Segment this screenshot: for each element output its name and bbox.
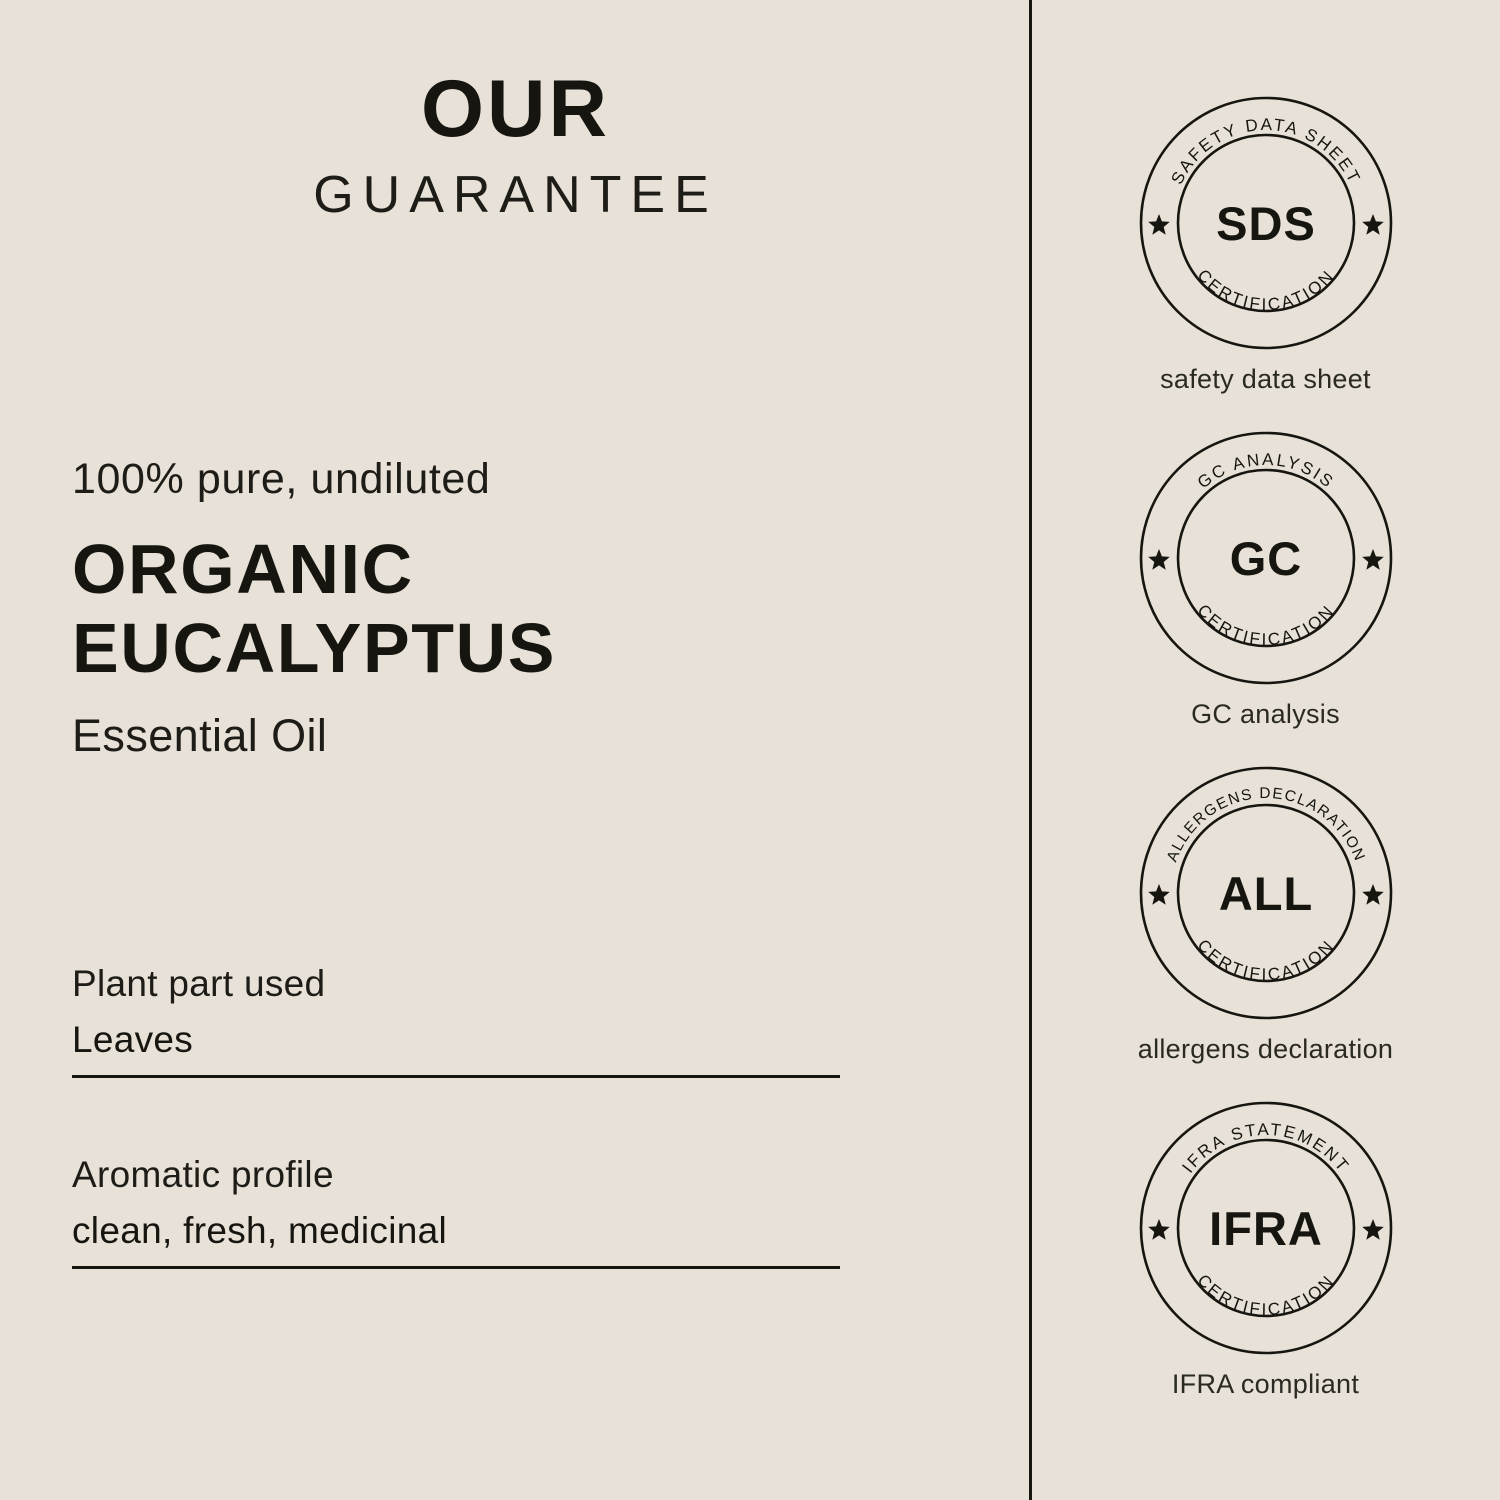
badge-caption: IFRA compliant xyxy=(1031,1369,1500,1400)
spec-list: Plant part used Leaves Aromatic profile … xyxy=(72,962,840,1269)
title-line-our: OUR xyxy=(0,68,1031,151)
product-heading-block: 100% pure, undiluted ORGANIC EUCALYPTUS … xyxy=(72,455,872,763)
star-icon-right xyxy=(1362,884,1384,905)
left-content-panel: OUR GUARANTEE 100% pure, undiluted ORGAN… xyxy=(0,0,1031,1500)
certification-badge-list: SAFETY DATA SHEET CERTIFICATION SDS safe… xyxy=(1031,96,1500,1436)
spec-label: Aromatic profile xyxy=(72,1153,840,1197)
product-eyebrow: 100% pure, undiluted xyxy=(72,455,872,504)
guarantee-panel: OUR GUARANTEE 100% pure, undiluted ORGAN… xyxy=(0,0,1500,1500)
seal-top-text: SAFETY DATA SHEET xyxy=(1167,115,1364,187)
certification-panel: SAFETY DATA SHEET CERTIFICATION SDS safe… xyxy=(1031,0,1500,1500)
badge-caption: GC analysis xyxy=(1031,699,1500,730)
star-icon-left xyxy=(1148,214,1170,235)
seal-icon: IFRA STATEMENT CERTIFICATION IFRA xyxy=(1139,1101,1393,1355)
star-icon-right xyxy=(1362,214,1384,235)
title-line-guarantee: GUARANTEE xyxy=(0,163,1031,228)
product-name: ORGANIC EUCALYPTUS xyxy=(72,530,872,687)
spec-field-plant-part: Plant part used Leaves xyxy=(72,962,840,1078)
star-icon-left xyxy=(1148,884,1170,905)
spec-value: clean, fresh, medicinal xyxy=(72,1209,840,1253)
star-icon-left xyxy=(1148,1219,1170,1240)
product-name-line-1: ORGANIC xyxy=(72,530,872,608)
seal-top-text: IFRA STATEMENT xyxy=(1178,1120,1353,1177)
certification-badge: SAFETY DATA SHEET CERTIFICATION SDS safe… xyxy=(1031,96,1500,431)
star-icon-right xyxy=(1362,549,1384,570)
seal-bottom-text: CERTIFICATION xyxy=(1193,936,1338,984)
spec-label: Plant part used xyxy=(72,962,840,1006)
page-title: OUR GUARANTEE xyxy=(0,68,1031,228)
star-icon-left xyxy=(1148,549,1170,570)
seal-bottom-text: CERTIFICATION xyxy=(1193,266,1338,314)
spec-field-aromatic-profile: Aromatic profile clean, fresh, medicinal xyxy=(72,1153,840,1269)
certification-badge: IFRA STATEMENT CERTIFICATION IFRA IFRA c… xyxy=(1031,1101,1500,1436)
badge-caption: allergens declaration xyxy=(1031,1034,1500,1065)
badge-caption: safety data sheet xyxy=(1031,364,1500,395)
seal-abbreviation: GC xyxy=(1229,532,1302,585)
seal-icon: GC ANALYSIS CERTIFICATION GC xyxy=(1139,431,1393,685)
seal-top-text: ALLERGENS DECLARATION xyxy=(1163,785,1368,864)
star-icon-right xyxy=(1362,1219,1384,1240)
certification-badge: ALLERGENS DECLARATION CERTIFICATION ALL … xyxy=(1031,766,1500,1101)
seal-bottom-text: CERTIFICATION xyxy=(1193,601,1338,649)
product-name-line-2: EUCALYPTUS xyxy=(72,609,872,687)
seal-abbreviation: IFRA xyxy=(1209,1202,1323,1255)
certification-badge: GC ANALYSIS CERTIFICATION GC GC analysis xyxy=(1031,431,1500,766)
seal-abbreviation: SDS xyxy=(1216,197,1316,250)
spec-value: Leaves xyxy=(72,1018,840,1062)
seal-bottom-text: CERTIFICATION xyxy=(1193,1271,1338,1319)
seal-icon: ALLERGENS DECLARATION CERTIFICATION ALL xyxy=(1139,766,1393,1020)
product-subtitle: Essential Oil xyxy=(72,709,872,763)
seal-icon: SAFETY DATA SHEET CERTIFICATION SDS xyxy=(1139,96,1393,350)
seal-abbreviation: ALL xyxy=(1218,867,1312,920)
